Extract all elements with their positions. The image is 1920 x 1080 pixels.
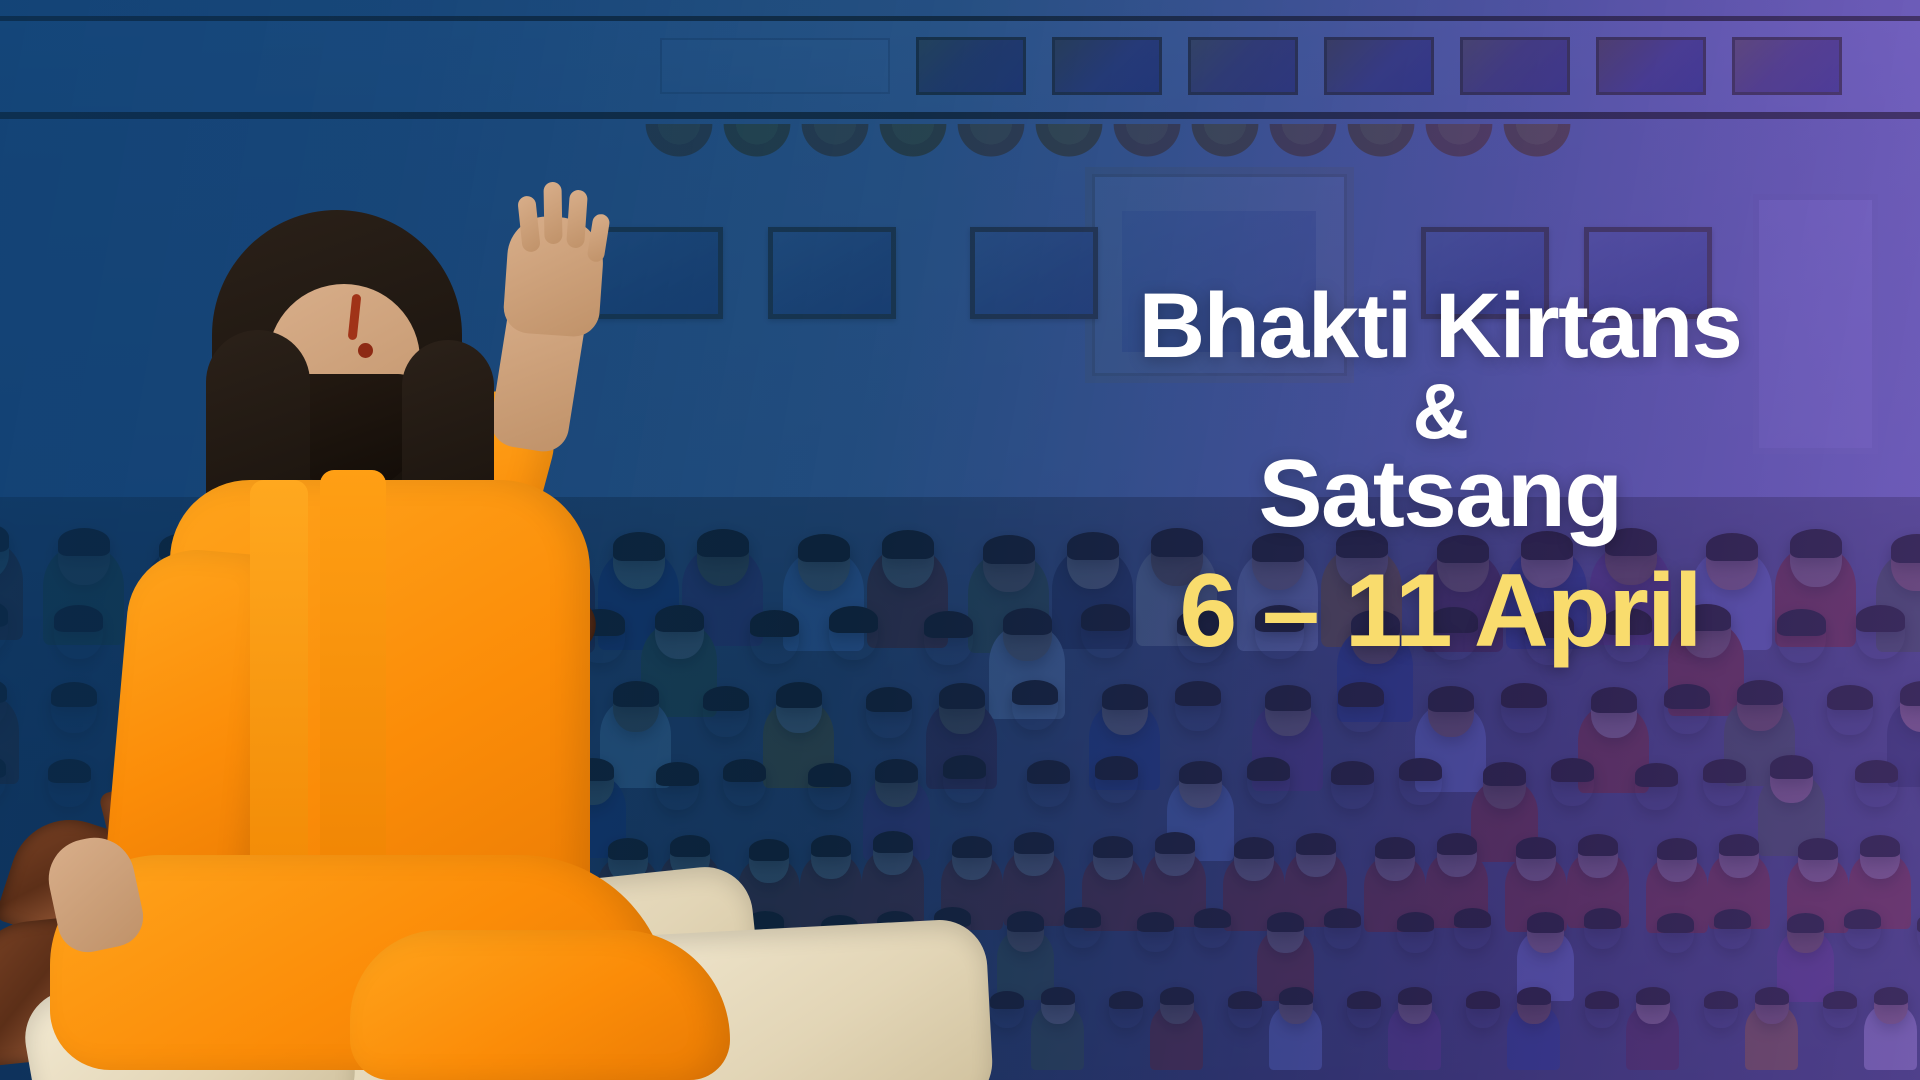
seated-saint (20, 180, 740, 1080)
event-banner: Bhakti Kirtans & Satsang 6 – 11 April (0, 0, 1920, 1080)
event-date-range: 6 – 11 April (998, 559, 1881, 663)
headline-line-1: Bhakti Kirtans (998, 281, 1881, 371)
headline-ampersand: & (998, 373, 1881, 449)
robe-scarf (320, 470, 386, 900)
headline-line-3: Satsang (998, 447, 1881, 541)
bindu-mark (358, 343, 373, 358)
robe-knee (350, 930, 730, 1080)
finger (586, 213, 610, 263)
finger (543, 182, 562, 244)
robe-scarf (250, 480, 308, 890)
headline-block: Bhakti Kirtans & Satsang 6 – 11 April (998, 281, 1881, 664)
